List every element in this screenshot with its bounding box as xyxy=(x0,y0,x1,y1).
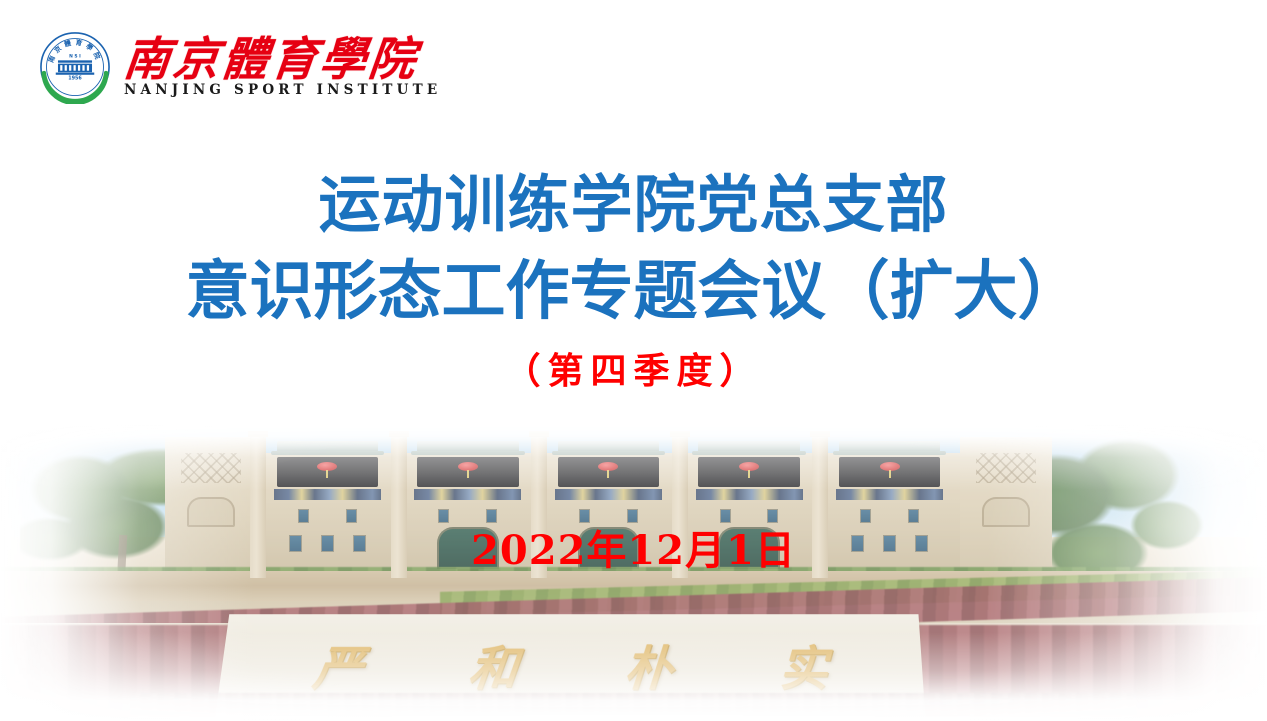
slide-subtitle: （第四季度） xyxy=(0,342,1267,394)
wordmark-english: NANJING SPORT INSTITUTE xyxy=(124,84,441,98)
svg-text:1956: 1956 xyxy=(68,76,82,82)
painted-frieze xyxy=(836,489,943,500)
motto-char-2: 和 xyxy=(466,630,524,699)
red-lantern-icon xyxy=(317,462,337,471)
red-lantern-icon xyxy=(739,462,759,471)
painted-frieze xyxy=(274,489,381,500)
recessed-bay xyxy=(277,457,378,487)
red-lantern-icon xyxy=(458,462,478,471)
presentation-slide: 南京體育學院 NANJING SPORT INSTITUTE N S I xyxy=(0,0,1267,721)
roof-cap xyxy=(698,441,799,452)
painted-frieze xyxy=(555,489,662,500)
motto-char-4: 实 xyxy=(778,630,829,699)
wordmark-chinese: 南京體育學院 xyxy=(122,36,421,82)
slide-title-group: 运动训练学院党总支部 意识形态工作专题会议（扩大） （第四季度） xyxy=(0,162,1267,394)
lattice-panel-right xyxy=(976,453,1036,483)
recessed-bay xyxy=(698,457,799,487)
roof-cap xyxy=(277,441,378,452)
pilaster-cap xyxy=(248,431,268,437)
painted-frieze xyxy=(414,489,521,500)
institute-wordmark: 南京體育學院 NANJING SPORT INSTITUTE xyxy=(124,36,441,98)
pilaster-cap xyxy=(670,431,690,437)
monument-motto-text: 严 和 朴 实 xyxy=(216,630,923,699)
roof-cap xyxy=(417,441,518,452)
title-line-1: 运动训练学院党总支部 xyxy=(0,162,1267,248)
recessed-bay xyxy=(558,457,659,487)
pilaster-cap xyxy=(810,431,830,437)
pilaster-cap xyxy=(529,431,549,437)
red-lantern-icon xyxy=(880,462,900,471)
institute-logo: 南京體育學院 NANJING SPORT INSTITUTE N S I xyxy=(38,30,441,104)
roof-cap xyxy=(839,441,940,452)
roof-cap xyxy=(558,441,659,452)
red-lantern-icon xyxy=(598,462,618,471)
painted-frieze xyxy=(696,489,803,500)
foreground-grass-fringe xyxy=(130,693,1137,715)
lattice-panel-left xyxy=(181,453,241,483)
motto-char-3: 朴 xyxy=(622,630,677,699)
recessed-bay xyxy=(839,457,940,487)
meeting-date: 2022年12月1日 xyxy=(0,518,1267,576)
title-line-2: 意识形态工作专题会议（扩大） xyxy=(0,248,1267,336)
motto-char-1: 严 xyxy=(309,630,370,699)
institute-emblem-icon: 南京體育學院 NANJING SPORT INSTITUTE N S I xyxy=(38,30,112,104)
recessed-bay xyxy=(417,457,518,487)
svg-text:N S I: N S I xyxy=(69,53,81,59)
pilaster-cap xyxy=(389,431,409,437)
